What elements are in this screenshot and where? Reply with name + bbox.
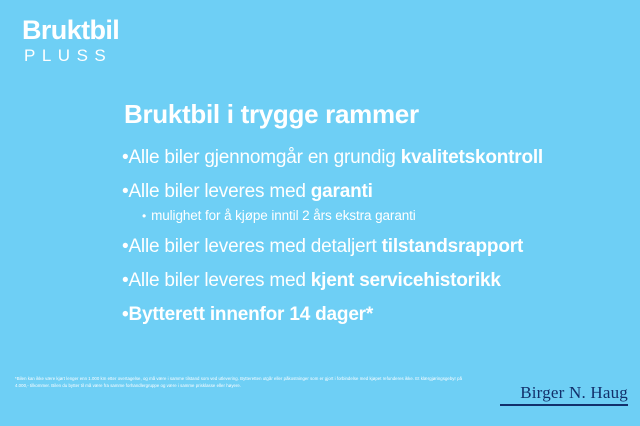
brand-logo-sub: PLUSS [24, 47, 119, 64]
list-item-emphasis: kjent servicehistorikk [311, 270, 501, 291]
list-item-text: Alle biler leveres med [128, 181, 310, 202]
partner-logo-underline [500, 404, 628, 406]
list-item-emphasis: tilstandsrapport [382, 236, 523, 257]
list-item-emphasis: kvalitetskontroll [401, 147, 543, 168]
list-item-text: Alle biler leveres med [128, 270, 310, 291]
list-item-emphasis: garanti [311, 181, 373, 202]
list-item: •Alle biler leveres med garanti [122, 182, 622, 202]
partner-logo: Birger N. Haug [520, 383, 628, 403]
sub-list-item-text: mulighet for å kjøpe inntil 2 års ekstra… [151, 208, 416, 223]
brand-logo-main: Bruktbil [22, 17, 119, 44]
sub-list-item: •mulighet for å kjøpe inntil 2 års ekstr… [142, 208, 622, 223]
page-title: Bruktbil i trygge rammer [124, 99, 419, 130]
feature-list: •Alle biler gjennomgår en grundig kvalit… [122, 148, 622, 339]
list-item: •Alle biler leveres med detaljert tilsta… [122, 237, 622, 257]
brand-logo: Bruktbil PLUSS [22, 17, 119, 64]
list-item: •Alle biler leveres med kjent servicehis… [122, 271, 622, 291]
list-item-text: Alle biler gjennomgår en grundig [128, 147, 400, 168]
slide-canvas: Bruktbil PLUSS Bruktbil i trygge rammer … [0, 0, 640, 426]
list-item-emphasis: Bytterett innenfor 14 dager* [128, 304, 373, 325]
footnote-text: *Bilen kan ikke være kjørt lenger enn 1.… [15, 376, 475, 390]
list-item: •Bytterett innenfor 14 dager* [122, 305, 622, 325]
sub-bullet-dot-icon: • [142, 209, 146, 223]
list-item-text: Alle biler leveres med detaljert [128, 236, 381, 257]
list-item: •Alle biler gjennomgår en grundig kvalit… [122, 148, 622, 168]
